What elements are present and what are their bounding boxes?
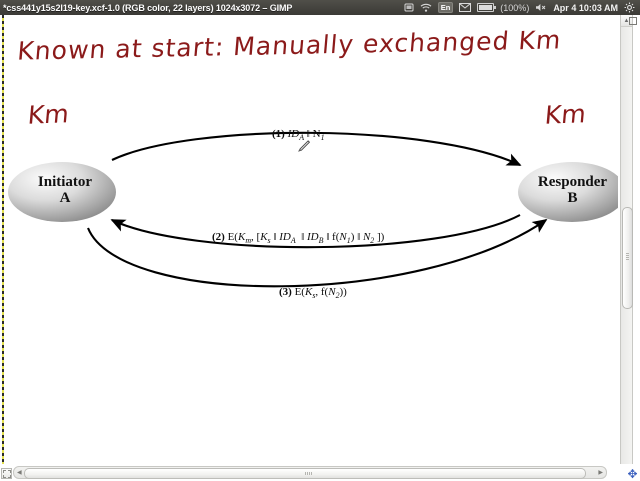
window-title: *css441y15s2l19-key.xcf-1.0 (RGB color, … bbox=[3, 3, 292, 13]
navigate-icon[interactable]: ✥ bbox=[626, 467, 639, 480]
quick-mask-icon[interactable] bbox=[1, 468, 12, 479]
system-top-bar: *css441y15s2l19-key.xcf-1.0 (RGB color, … bbox=[0, 0, 640, 15]
wifi-icon[interactable] bbox=[420, 3, 432, 13]
horizontal-scrollbar[interactable]: ◀ ▶ bbox=[13, 466, 607, 479]
scrollbar-grip-horizontal bbox=[305, 472, 312, 475]
scroll-left-arrow[interactable]: ◀ bbox=[17, 469, 22, 477]
message-1-number: (1) bbox=[272, 128, 285, 140]
display-icon[interactable] bbox=[404, 3, 414, 13]
node-label-responder: Responder B bbox=[520, 175, 618, 207]
battery-icon[interactable] bbox=[477, 3, 494, 12]
horizontal-scrollbar-thumb[interactable] bbox=[24, 468, 586, 479]
initiator-name: Initiator bbox=[38, 174, 92, 190]
scroll-right-arrow[interactable]: ▶ bbox=[598, 469, 603, 477]
message-3-number: (3) bbox=[279, 286, 292, 298]
message-label-1: (1) IDA ‖ N1 bbox=[272, 128, 325, 142]
message-2-body: E(Km, [Ks ‖ IDA ‖ IDB ‖ f(N1) ‖ N2 ]) bbox=[228, 231, 385, 243]
message-label-3: (3) E(Ks, f(N2)) bbox=[279, 286, 347, 300]
zoom-image-icon[interactable] bbox=[627, 15, 638, 26]
initiator-letter: A bbox=[15, 191, 115, 207]
vertical-scrollbar[interactable]: ▲ bbox=[620, 15, 633, 464]
system-tray: En (100%) Apr 4 10:03 AM bbox=[404, 2, 637, 13]
scrollbar-grip bbox=[626, 253, 629, 260]
node-label-initiator: Initiator A bbox=[15, 175, 115, 207]
gimp-image-window: Known at start: Manually exchanged Km Km… bbox=[0, 15, 640, 480]
message-1-body: IDA ‖ N1 bbox=[288, 128, 325, 140]
message-label-2: (2) E(Km, [Ks ‖ IDA ‖ IDB ‖ f(N1) ‖ N2 ]… bbox=[212, 231, 384, 245]
gear-icon[interactable] bbox=[624, 2, 635, 13]
image-canvas[interactable]: Known at start: Manually exchanged Km Km… bbox=[0, 15, 618, 464]
keyboard-layout-indicator[interactable]: En bbox=[438, 2, 454, 13]
message-3-body: E(Ks, f(N2)) bbox=[295, 286, 347, 298]
clock-label[interactable]: Apr 4 10:03 AM bbox=[553, 3, 618, 13]
battery-percent-label: (100%) bbox=[500, 3, 529, 13]
responder-name: Responder bbox=[538, 174, 607, 190]
responder-letter: B bbox=[520, 191, 618, 207]
message-2-number: (2) bbox=[212, 231, 225, 243]
vertical-scrollbar-thumb[interactable] bbox=[622, 207, 633, 309]
mail-icon[interactable] bbox=[459, 3, 471, 12]
volume-muted-icon[interactable] bbox=[535, 3, 547, 12]
